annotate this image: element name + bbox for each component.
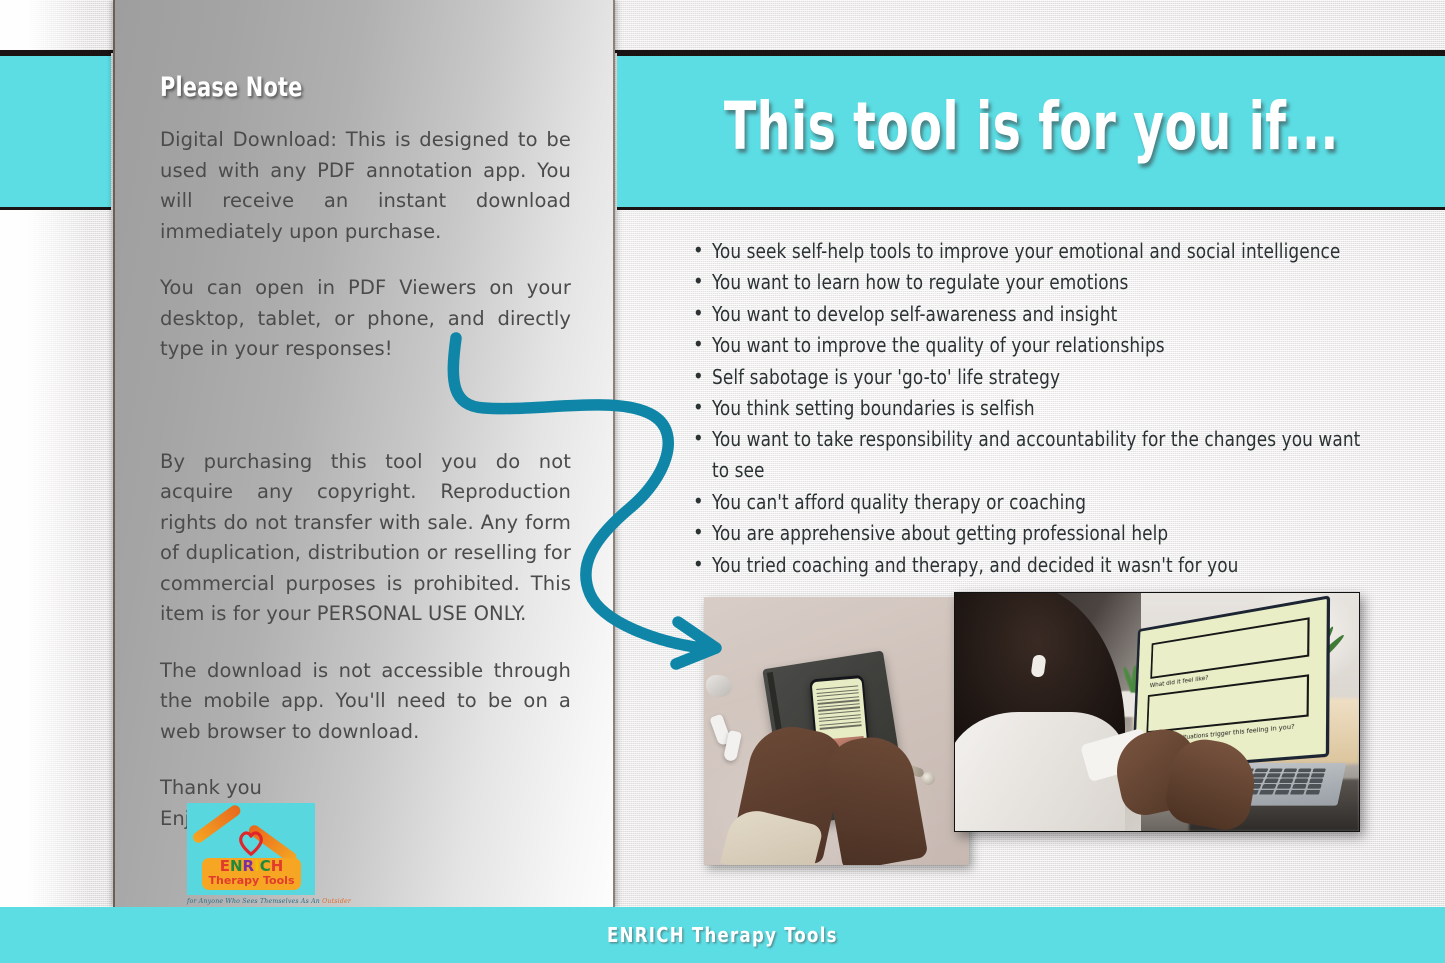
page-title-text: This tool is for you if... — [724, 87, 1339, 164]
page-title: This tool is for you if... — [617, 91, 1445, 168]
bullet-text: You tried coaching and therapy, and deci… — [712, 550, 1238, 581]
logo-letter-0: E — [220, 857, 230, 875]
benefits-list: You seek self-help tools to improve your… — [690, 236, 1420, 581]
note-paragraph-1: Digital Download: This is designed to be… — [160, 125, 571, 247]
logo-letter-5: H — [271, 857, 284, 875]
list-item: You want to develop self-awareness and i… — [690, 299, 1420, 330]
logo-subtitle: Therapy Tools — [205, 875, 298, 886]
bullet-text: You are apprehensive about getting profe… — [712, 518, 1168, 549]
earbuds-icon — [712, 693, 746, 765]
list-item: You seek self-help tools to improve your… — [690, 236, 1420, 267]
bullet-text: You want to develop self-awareness and i… — [712, 299, 1117, 330]
logo-tagline-accent: Outsider — [322, 898, 351, 905]
poster-canvas: Please Note Digital Download: This is de… — [0, 0, 1445, 963]
list-item: You can't afford quality therapy or coac… — [690, 487, 1420, 518]
curved-arrow-icon — [430, 330, 770, 675]
worksheet-text-lines — [816, 685, 862, 736]
logo-tagline: for Anyone Who Sees Themselves As An Out… — [187, 898, 315, 905]
bullet-text: You seek self-help tools to improve your… — [712, 236, 1340, 267]
logo-letter-1: N — [230, 857, 243, 875]
person-typing-on-laptop-photo: What did it feel like? What other situat… — [954, 592, 1360, 832]
bullet-text: You want to learn how to regulate your e… — [712, 267, 1128, 298]
worksheet-answer-box-1[interactable] — [1150, 617, 1310, 679]
logo-letter-4: C — [260, 857, 271, 875]
list-item: You want to take responsibility and acco… — [690, 424, 1420, 486]
logo-tagline-main: for Anyone Who Sees Themselves As An — [187, 898, 322, 905]
logo-letter-2: R — [243, 857, 255, 875]
right-header-band: This tool is for you if... — [617, 53, 1445, 210]
footer-brand-text: ENRICH Therapy Tools — [607, 923, 838, 947]
brand-logo: ENRICH Therapy Tools for Anyone Who Sees… — [187, 803, 315, 907]
house-roof-left-icon — [191, 803, 243, 845]
footer-bar: ENRICH Therapy Tools — [0, 907, 1445, 963]
heart-icon — [237, 830, 265, 856]
bullet-text: You want to improve the quality of your … — [712, 330, 1165, 361]
bullet-text: You want to take responsibility and acco… — [712, 424, 1378, 486]
left-accent-band — [0, 53, 111, 210]
please-note-title: Please Note — [160, 72, 513, 103]
list-item: You want to improve the quality of your … — [690, 330, 1420, 361]
list-item: You want to learn how to regulate your e… — [690, 267, 1420, 298]
note-thank-you: Thank you — [160, 773, 571, 804]
logo-wordmark: ENRICH — [205, 859, 298, 874]
list-item: Self sabotage is your 'go-to' life strat… — [690, 362, 1420, 393]
list-item: You are apprehensive about getting profe… — [690, 518, 1420, 549]
list-item: You tried coaching and therapy, and deci… — [690, 550, 1420, 581]
list-item: You think setting boundaries is selfish — [690, 393, 1420, 424]
logo-tile: ENRICH Therapy Tools for Anyone Who Sees… — [187, 803, 315, 895]
